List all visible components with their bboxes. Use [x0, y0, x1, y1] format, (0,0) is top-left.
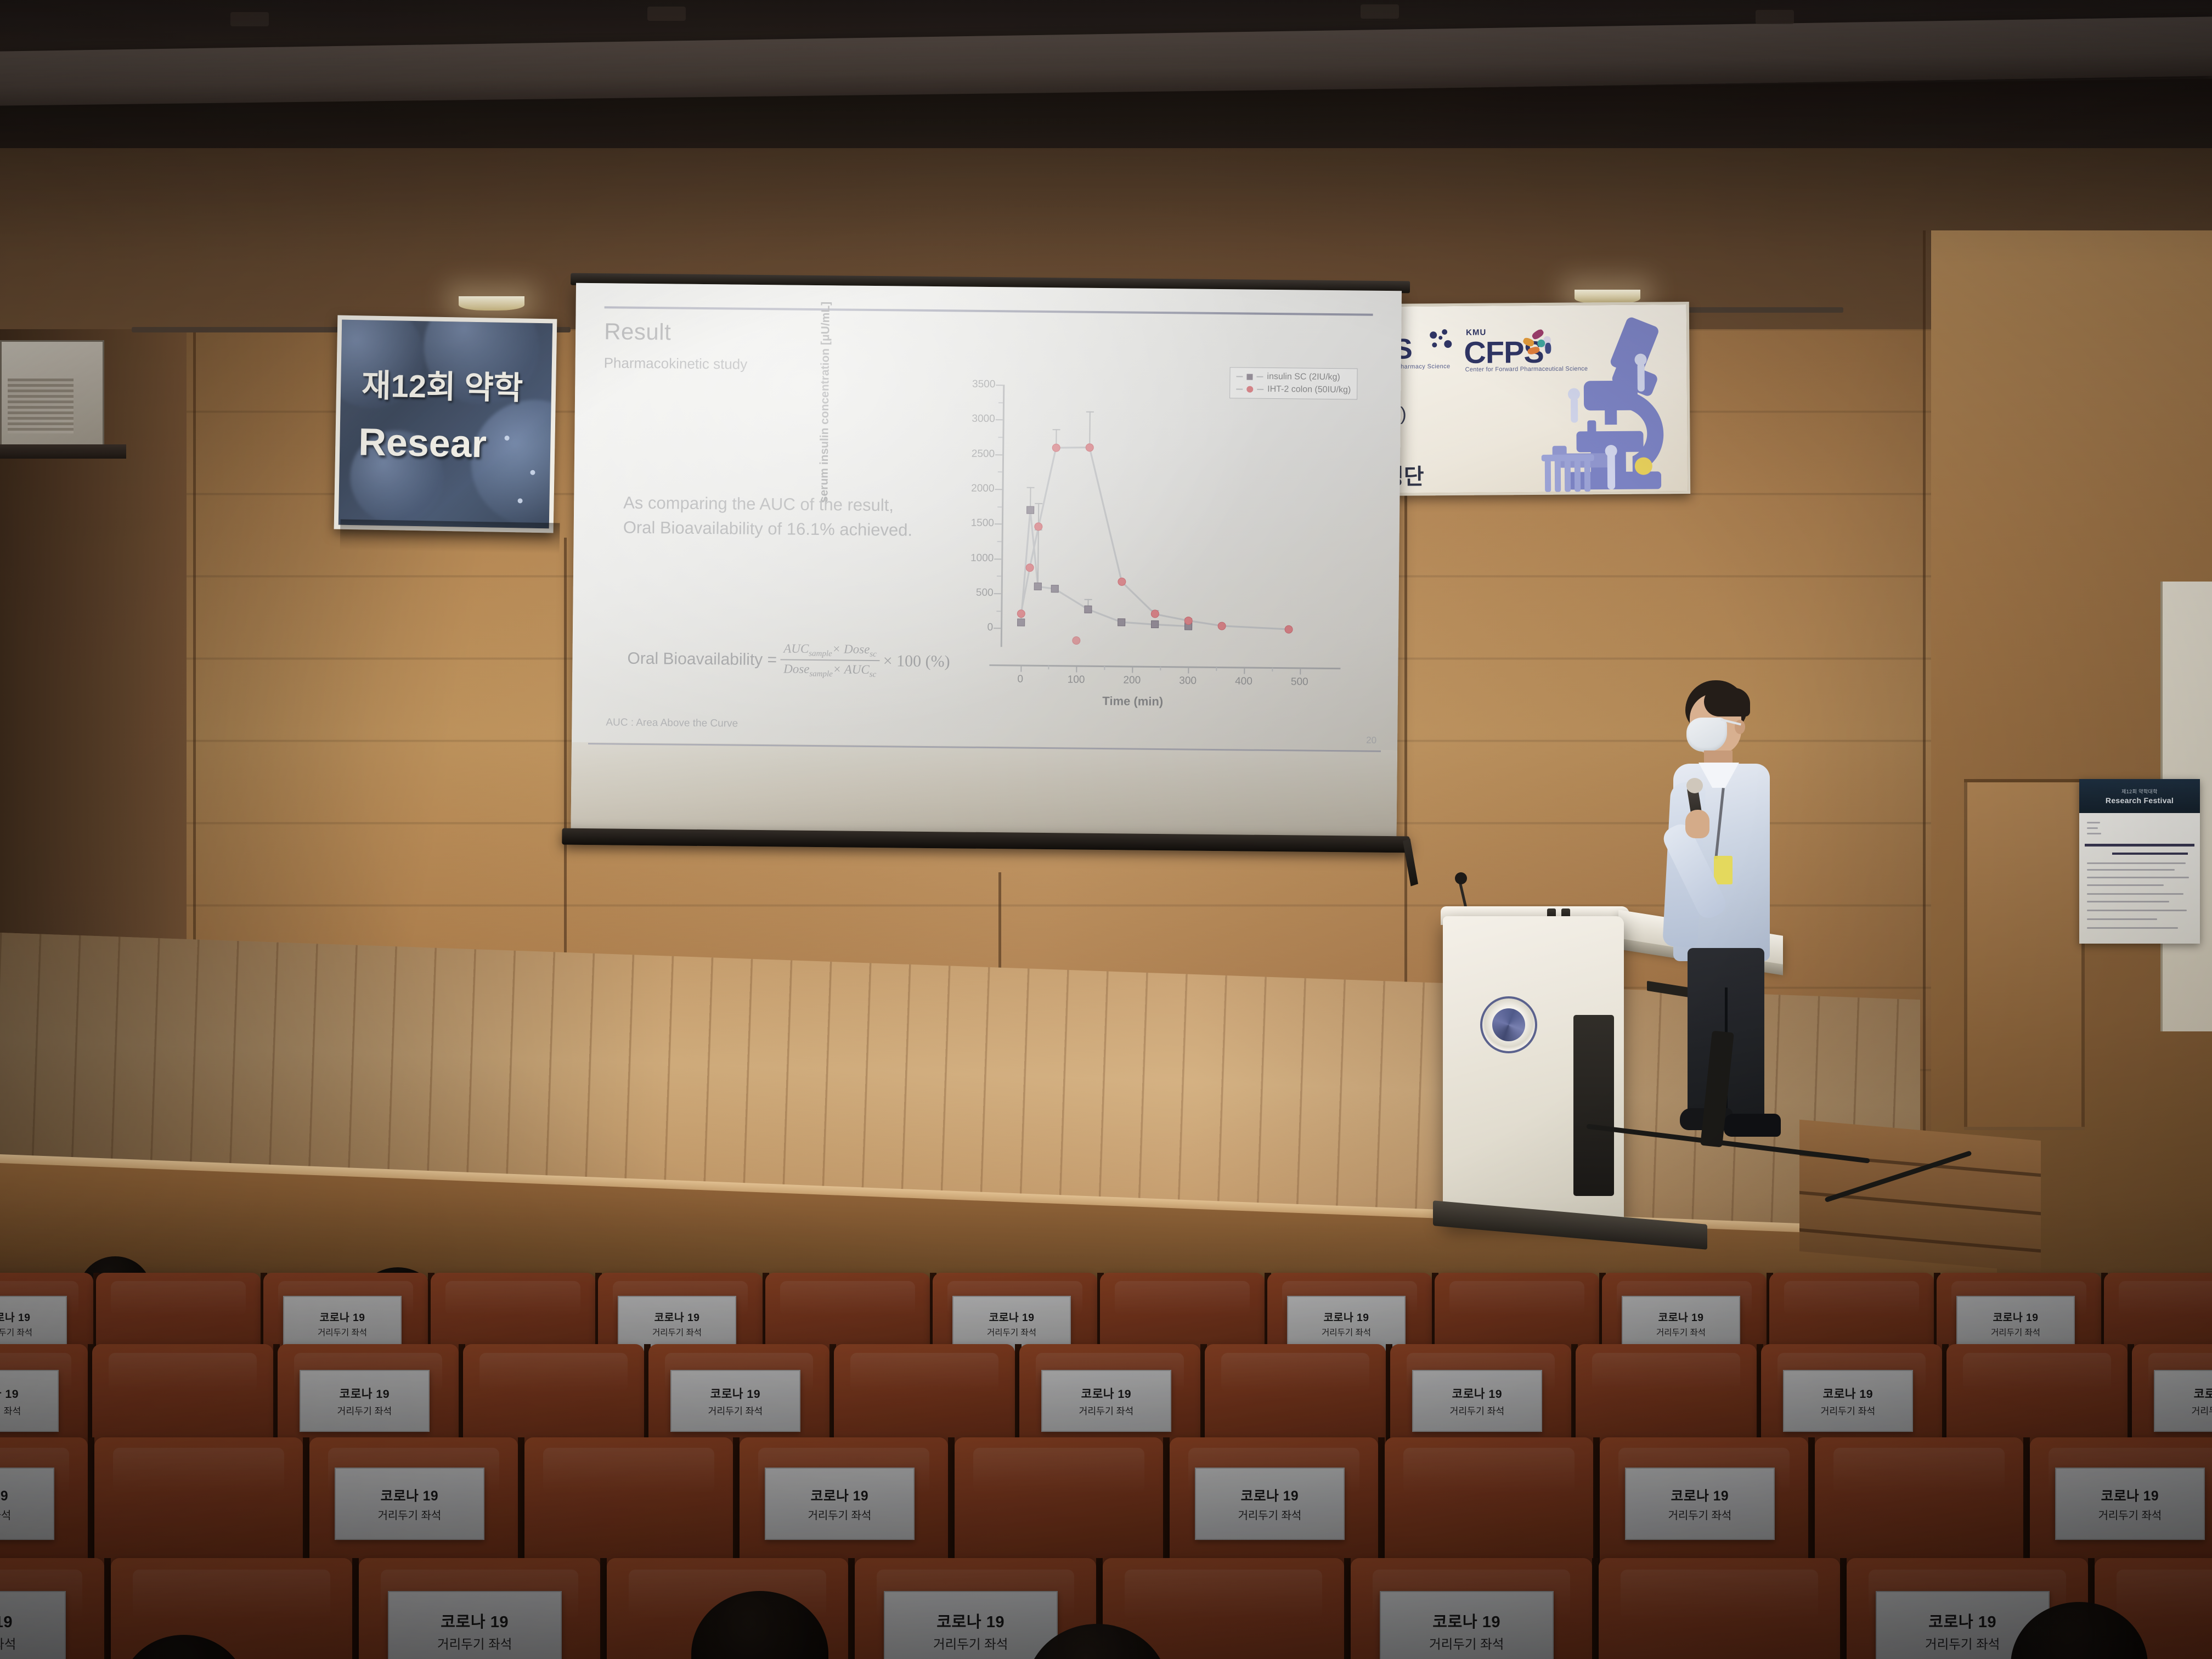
- ceiling-vent-icon: [1361, 4, 1399, 19]
- spotlight-icon: [459, 296, 524, 311]
- emblem-crest-icon: [1492, 1008, 1525, 1041]
- presenter-name-badge: [1714, 856, 1733, 884]
- covid-distancing-sign: 코로나 19거리두기 좌석: [1041, 1370, 1172, 1432]
- formula-numerator: AUCsample× Dosesc: [780, 641, 880, 661]
- chart-x-axis: [989, 664, 1340, 669]
- poster-text-line: [2087, 877, 2189, 878]
- chart-data-point: [1151, 610, 1159, 618]
- chart-x-tick-minor: [1216, 667, 1217, 671]
- formula-label: Oral Bioavailability =: [627, 650, 777, 670]
- covid-distancing-sign: 코로나 19거리두기 좌석: [670, 1370, 801, 1432]
- chart-x-axis-label: Time (min): [1040, 693, 1226, 709]
- chart-y-tick: [994, 593, 1001, 594]
- audience-member-foreground: [1953, 1602, 2205, 1659]
- chart-legend: insulin SC (2IU/kg) IHT-2 colon (50IU/kg…: [1229, 367, 1358, 399]
- chart-data-point: [1151, 620, 1159, 628]
- chart-y-tick-label: 0: [944, 622, 993, 634]
- covid-distancing-sign: 코로나 19거리두기 좌석: [1195, 1468, 1345, 1540]
- poster-text-line: [2087, 822, 2100, 823]
- poster-text-line: [2087, 827, 2098, 829]
- sign-line-2: 거리두기 좌석: [1450, 1403, 1505, 1417]
- slide-top-rule: [605, 306, 1373, 315]
- covid-distancing-sign: 코로나 19거리두기 좌석: [300, 1370, 430, 1432]
- pharmacokinetic-chart: serum insulin concentration [μU/mL] Time…: [923, 368, 1365, 740]
- slide-subtitle: Pharmacokinetic study: [604, 354, 748, 373]
- microscope-icon: [1535, 314, 1684, 496]
- chart-y-tick-label: 3500: [946, 378, 995, 391]
- chart-plot-area: [1004, 385, 1314, 648]
- covid-distancing-sign: 코로나 19거리두기 좌석: [618, 1296, 736, 1351]
- chart-y-tick: [996, 385, 1003, 386]
- sign-line-2: 거리두기 좌석: [1991, 1326, 2040, 1338]
- legend-entry-insulin-sc: insulin SC (2IU/kg): [1236, 371, 1351, 382]
- seat-gap: [1840, 1558, 1847, 1659]
- sign-line-1: 코로나 19: [441, 1609, 509, 1632]
- chart-y-tick: [995, 454, 1002, 455]
- covid-distancing-sign: 코로나 19거리두기 좌석: [0, 1370, 59, 1432]
- chart-y-tick-label: 2000: [945, 482, 994, 495]
- chart-x-tick-label: 200: [1123, 674, 1141, 686]
- banner-dot: [518, 498, 523, 503]
- sign-line-2: 거리두기 좌석: [708, 1403, 763, 1417]
- sign-line-2: 거리두기 좌석: [652, 1326, 702, 1338]
- seat-gap: [1344, 1558, 1351, 1659]
- chart-y-tick-minor: [997, 575, 1001, 577]
- sign-line-1: 코로나 19: [0, 1309, 30, 1324]
- sign-line-1: 코로나 19: [1432, 1609, 1500, 1632]
- poster-text-line: [2087, 918, 2157, 920]
- sign-line-1: 코로나 19: [0, 1609, 13, 1632]
- chart-y-tick-label: 1500: [945, 517, 994, 530]
- seat-gap: [352, 1558, 359, 1659]
- poster-text-line: [2087, 910, 2187, 911]
- poster-text-line: [2087, 927, 2178, 929]
- microphone-head-icon: [1686, 778, 1703, 793]
- chart-x-tick-minor: [1160, 667, 1161, 670]
- chart-data-point: [1034, 523, 1042, 531]
- legend-line-icon: [1236, 376, 1243, 377]
- chart-x-tick-label: 0: [1017, 674, 1023, 686]
- chart-error-bar-cap: [1086, 411, 1094, 413]
- covid-distancing-sign: 코로나 19거리두기 좌석: [2055, 1468, 2205, 1540]
- chart-error-bar-cap: [1026, 487, 1034, 488]
- banner-dot: [504, 436, 509, 441]
- presenter-hair-front: [1704, 688, 1750, 716]
- covid-distancing-sign: 코로나 19거리두기 좌석: [0, 1591, 66, 1659]
- poster-text-line: [2087, 833, 2101, 834]
- formula-fraction: AUCsample× Dosesc Dosesample× AUCsc: [780, 641, 880, 680]
- sign-line-1: 코로나 19: [2101, 1485, 2159, 1505]
- poster-rule: [2112, 853, 2188, 855]
- chart-x-tick-minor: [1048, 665, 1049, 669]
- slide-body-line-1: As comparing the AUC of the result,: [623, 491, 913, 518]
- chart-x-tick: [1076, 666, 1077, 673]
- molecule-dots-icon: [1429, 329, 1455, 352]
- chart-data-point: [1085, 443, 1093, 452]
- poster-rule: [2085, 844, 2194, 847]
- sign-line-2: 거리두기 좌석: [987, 1326, 1036, 1338]
- audience-member-foreground: [66, 1635, 302, 1659]
- sign-line-2: 거리두기 좌석: [808, 1506, 872, 1522]
- chart-data-point: [1285, 625, 1293, 634]
- sign-line-1: 코로나 19: [1658, 1309, 1704, 1324]
- presenter-hand: [1685, 810, 1709, 838]
- chart-y-tick-minor: [998, 437, 1002, 438]
- audience-member-foreground: [631, 1591, 889, 1659]
- legend-circle-marker-icon: [1246, 386, 1253, 393]
- sign-line-2: 거리두기 좌석: [1429, 1634, 1504, 1652]
- sign-line-2: 거리두기 좌석: [337, 1403, 392, 1417]
- banner-left-line1: 재12회 약학: [362, 359, 523, 408]
- sign-line-1: 코로나 19: [1671, 1485, 1729, 1505]
- chart-x-tick-label: 300: [1179, 675, 1197, 687]
- covid-distancing-sign: 코로나 19거리두기 좌석: [1287, 1296, 1406, 1351]
- sign-line-2: 거리두기 좌석: [1079, 1403, 1134, 1417]
- sign-line-1: 코로나 19: [0, 1485, 8, 1505]
- sign-line-1: 코로나 19: [1823, 1385, 1873, 1402]
- covid-distancing-sign: 코로나 19거리두기 좌석: [283, 1296, 402, 1351]
- legend-line-icon: [1236, 388, 1243, 390]
- sign-line-1: 코로나 19: [2194, 1385, 2212, 1402]
- chart-data-point: [1034, 583, 1042, 590]
- chart-y-tick-label: 3000: [946, 413, 995, 426]
- audience-member-head: [121, 1635, 247, 1659]
- chart-y-tick-label: 500: [944, 586, 994, 599]
- chart-x-tick: [1020, 665, 1022, 672]
- poster-text-line: [2087, 893, 2183, 895]
- sign-line-2: 거리두기 좌석: [2192, 1403, 2212, 1417]
- wall-shelf: [0, 444, 126, 459]
- chart-series-line-1: [1021, 447, 1291, 629]
- sign-line-2: 거리두기 좌석: [318, 1326, 367, 1338]
- chart-series-lines: [1004, 385, 1314, 648]
- covid-distancing-sign: 코로나 19거리두기 좌석: [1625, 1468, 1775, 1540]
- chart-data-point: [1052, 444, 1060, 452]
- chart-x-tick-minor: [1104, 666, 1105, 670]
- sign-line-1: 코로나 19: [1324, 1309, 1369, 1324]
- chart-y-tick-minor: [997, 541, 1002, 542]
- audience-area: 코로나 19거리두기 좌석코로나 19거리두기 좌석코로나 19거리두기 좌석코…: [0, 1108, 2212, 1659]
- covid-distancing-sign: 코로나 19거리두기 좌석: [952, 1296, 1071, 1351]
- slide-formula: Oral Bioavailability = AUCsample× Dosesc…: [627, 640, 950, 680]
- covid-distancing-sign: 코로나 19거리두기 좌석: [335, 1468, 485, 1540]
- door[interactable]: [1964, 779, 2085, 1130]
- seat-gap: [600, 1558, 607, 1659]
- slide-title: Result: [604, 318, 672, 345]
- poster-header-korean: 제12회 약학대학: [2121, 788, 2158, 795]
- legend-line-icon: [1256, 376, 1263, 377]
- chart-series-line-0: [1021, 510, 1189, 627]
- legend-label: IHT-2 colon (50IU/kg): [1267, 385, 1351, 395]
- sign-line-2: 거리두기 좌석: [2098, 1506, 2162, 1522]
- chart-data-point: [1017, 610, 1025, 618]
- sign-line-2: 거리두기 좌석: [378, 1506, 442, 1522]
- sign-line-1: 코로나 19: [340, 1385, 390, 1402]
- covid-distancing-sign: 코로나 19거리두기 좌석: [2154, 1370, 2212, 1432]
- chart-y-tick: [994, 628, 1001, 629]
- ceiling-vent-icon: [1756, 10, 1794, 24]
- seat-gap: [1592, 1558, 1599, 1659]
- poster-text-line: [2087, 884, 2164, 886]
- chart-data-point: [1218, 622, 1226, 630]
- chart-data-point: [1184, 617, 1193, 625]
- covid-distancing-sign: 코로나 19거리두기 좌석: [0, 1468, 54, 1540]
- poster-research-festival: 제12회 약학대학 Research Festival: [2079, 779, 2200, 944]
- sign-line-1: 코로나 19: [1081, 1385, 1131, 1402]
- chart-x-tick-label: 100: [1068, 674, 1085, 686]
- chart-y-tick-minor: [998, 472, 1002, 473]
- covid-distancing-sign: 코로나 19거리두기 좌석: [765, 1468, 915, 1540]
- covid-distancing-sign: 코로나 19거리두기 좌석: [1956, 1296, 2075, 1351]
- poster-header-english: Research Festival: [2106, 796, 2174, 805]
- chart-y-tick: [996, 419, 1003, 420]
- conference-photo-scene: 재12회 약학 Resear PS Korea Pharmacy Science…: [0, 0, 2212, 1659]
- covid-distancing-sign: 코로나 19거리두기 좌석: [1622, 1296, 1740, 1351]
- chart-y-tick: [995, 489, 1002, 490]
- sign-line-2: 거리두기 좌석: [1238, 1506, 1302, 1522]
- sign-line-2: 거리두기 좌석: [437, 1634, 512, 1652]
- audience-member-head: [1026, 1624, 1169, 1659]
- banner-right: PS Korea Pharmacy Science KMU CFPS Cente…: [1376, 302, 1690, 496]
- banner-left: 재12회 약학 Resear: [334, 315, 557, 533]
- poster-text-line: [2087, 862, 2186, 864]
- chart-y-tick-label: 2500: [945, 448, 995, 460]
- sign-line-2: 거리두기 좌석: [0, 1634, 16, 1652]
- slide-body-line-2: Oral Bioavailability of 16.1% achieved.: [623, 516, 913, 543]
- chart-x-tick: [1300, 668, 1301, 674]
- legend-entry-iht2-colon: IHT-2 colon (50IU/kg): [1236, 384, 1351, 395]
- sign-line-1: 코로나 19: [811, 1485, 868, 1505]
- sign-line-2: 거리두기 좌석: [1656, 1326, 1706, 1338]
- covid-distancing-sign: 코로나 19거리두기 좌석: [388, 1591, 562, 1659]
- covid-distancing-sign: 코로나 19거리두기 좌석: [1412, 1370, 1543, 1432]
- chart-y-axis-label: serum insulin concentration [μU/mL]: [817, 272, 833, 503]
- covid-distancing-sign: 코로나 19거리두기 좌석: [1380, 1591, 1554, 1659]
- face-mask-icon: [1686, 718, 1727, 752]
- chart-data-point: [1084, 606, 1092, 613]
- legend-label: insulin SC (2IU/kg): [1267, 372, 1340, 382]
- chart-x-tick: [1132, 667, 1133, 673]
- chart-data-point: [1017, 619, 1025, 627]
- legend-square-marker-icon: [1246, 374, 1252, 380]
- sign-line-1: 코로나 19: [1241, 1485, 1299, 1505]
- chart-x-tick: [1188, 667, 1189, 674]
- audience-member-head: [691, 1591, 828, 1659]
- projection-screen-assembly: Result Pharmacokinetic study As comparin…: [565, 273, 1410, 877]
- sign-line-2: 거리두기 좌석: [1668, 1506, 1732, 1522]
- chart-y-tick-minor: [997, 506, 1002, 507]
- chart-y-tick-minor: [998, 402, 1003, 403]
- chart-data-point: [1118, 618, 1125, 626]
- sign-line-1: 코로나 19: [654, 1309, 700, 1324]
- chart-data-point: [1025, 563, 1034, 572]
- sign-line-2: 거리두기 좌석: [1322, 1326, 1371, 1338]
- sign-line-1: 코로나 19: [1452, 1385, 1502, 1402]
- sign-line-2: 거리두기 좌석: [1821, 1403, 1876, 1417]
- banner-left-line2: Resear: [358, 420, 487, 466]
- chart-x-tick-label: 500: [1291, 676, 1308, 688]
- chart-x-tick: [1244, 667, 1245, 674]
- banner-left-shadow: [340, 520, 560, 554]
- slide-footnote: AUC : Area Above the Curve: [606, 716, 738, 730]
- sign-line-2: 거리두기 좌석: [0, 1403, 21, 1417]
- chart-data-point: [1118, 578, 1126, 586]
- microphone-icon: [1455, 872, 1467, 884]
- slide-bottom-rule: [588, 743, 1381, 752]
- audience-member-head: [2011, 1602, 2148, 1659]
- chart-x-tick-minor: [1272, 668, 1273, 672]
- sign-line-1: 코로나 19: [1993, 1309, 2039, 1324]
- chart-x-tick-label: 400: [1235, 675, 1252, 687]
- sign-line-1: 코로나 19: [989, 1309, 1035, 1324]
- chart-error-bar-cap: [1084, 599, 1092, 600]
- chart-data-point: [1051, 585, 1058, 592]
- ceiling-vent-icon: [230, 12, 269, 26]
- chart-y-tick: [994, 558, 1001, 560]
- chart-error-bar-cap: [1035, 503, 1042, 504]
- chart-data-point: [1026, 506, 1034, 514]
- sign-line-1: 코로나 19: [0, 1385, 19, 1402]
- poster-header: 제12회 약학대학 Research Festival: [2079, 779, 2200, 813]
- wall-equipment-grille: [8, 379, 74, 433]
- sign-line-2: 거리두기 좌석: [0, 1506, 11, 1522]
- slide-body-text: As comparing the AUC of the result, Oral…: [623, 491, 913, 543]
- ceiling-vent-icon: [647, 7, 686, 21]
- poster-text-line: [2087, 901, 2169, 902]
- sign-line-1: 코로나 19: [710, 1385, 760, 1402]
- chart-y-tick-label: 1000: [944, 552, 994, 565]
- sign-line-1: 코로나 19: [320, 1309, 365, 1324]
- sign-line-2: 거리두기 좌석: [0, 1326, 32, 1338]
- covid-distancing-sign: 코로나 19거리두기 좌석: [1783, 1370, 1914, 1432]
- slide-page-number: 20: [1366, 735, 1376, 746]
- audience-member-foreground: [966, 1624, 1229, 1659]
- chart-y-tick: [995, 523, 1002, 524]
- chart-error-bar-cap: [1052, 429, 1060, 430]
- chart-data-point-outlier: [1073, 636, 1081, 645]
- university-emblem: [1480, 996, 1537, 1053]
- formula-denominator: Dosesample× AUCsc: [780, 661, 879, 680]
- presentation-slide: Result Pharmacokinetic study As comparin…: [572, 283, 1402, 760]
- sign-line-1: 코로나 19: [381, 1485, 438, 1505]
- banner-dot: [530, 470, 535, 475]
- chart-y-tick-minor: [996, 611, 1001, 612]
- legend-line-icon: [1257, 389, 1263, 390]
- poster-text-line: [2087, 869, 2175, 871]
- audience-seat[interactable]: [1599, 1558, 1840, 1659]
- covid-distancing-sign: 코로나 19거리두기 좌석: [0, 1296, 67, 1351]
